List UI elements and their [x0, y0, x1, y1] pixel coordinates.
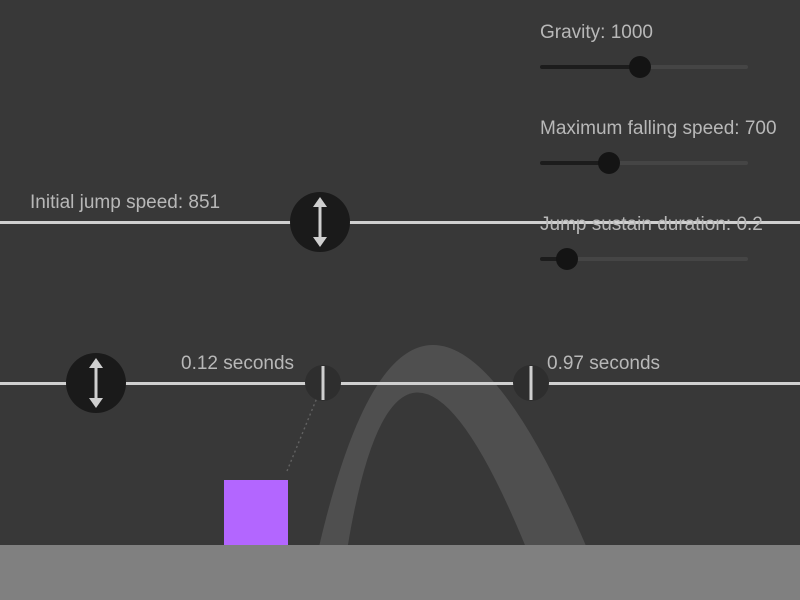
gravity-label: Gravity: 1000	[540, 22, 790, 44]
settings-panel: Gravity: 1000 Maximum falling speed: 700…	[540, 22, 790, 270]
max-falling-speed-label: Maximum falling speed: 700	[540, 118, 790, 140]
vertical-bar-icon	[528, 366, 534, 400]
jump-tuner-stage: Initial jump speed: 851 0.12 seconds 0.9…	[0, 0, 800, 600]
max-falling-speed-slider-knob[interactable]	[598, 152, 620, 174]
initial-jump-speed-label: Initial jump speed: 851	[30, 192, 220, 214]
time-marker-2-label: 0.97 seconds	[547, 353, 660, 375]
initial-jump-speed-handle-left[interactable]	[66, 353, 126, 413]
vertical-double-arrow-icon	[310, 197, 330, 247]
time-marker-1-handle[interactable]	[305, 365, 341, 401]
time-marker-1-label: 0.12 seconds	[181, 353, 294, 375]
slider-group-gravity: Gravity: 1000	[540, 22, 790, 78]
gravity-slider-knob[interactable]	[629, 56, 651, 78]
initial-jump-speed-handle-apex[interactable]	[290, 192, 350, 252]
vertical-double-arrow-icon	[86, 358, 106, 408]
jump-sustain-duration-label: Jump sustain duration: 0.2	[540, 214, 790, 236]
jump-sustain-duration-slider-knob[interactable]	[556, 248, 578, 270]
slider-group-jump-sustain-duration: Jump sustain duration: 0.2	[540, 214, 790, 270]
jump-sustain-duration-slider[interactable]	[540, 248, 748, 270]
max-falling-speed-slider[interactable]	[540, 152, 748, 174]
gravity-slider-fill	[540, 65, 640, 69]
player-character[interactable]	[224, 480, 288, 545]
time-marker-2-handle[interactable]	[513, 365, 549, 401]
vertical-bar-icon	[320, 366, 326, 400]
gravity-slider[interactable]	[540, 56, 748, 78]
slider-group-max-falling-speed: Maximum falling speed: 700	[540, 118, 790, 174]
